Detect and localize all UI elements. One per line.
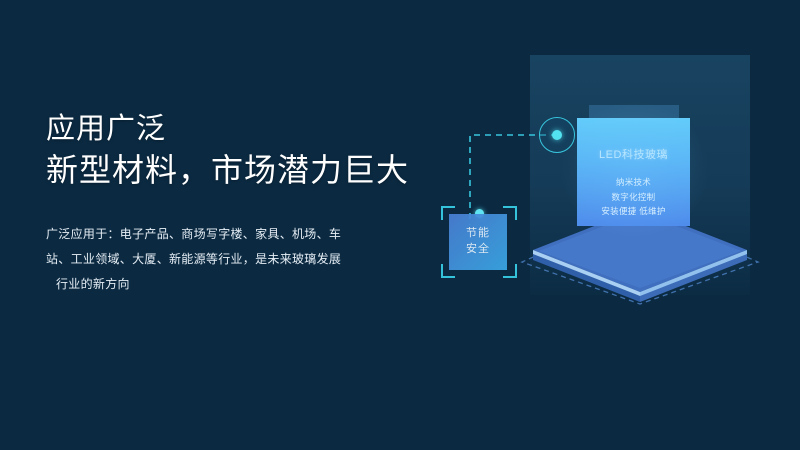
headline-line-2: 新型材料，市场潜力巨大 xyxy=(46,151,409,190)
glass-panel-feature: 数字化控制 xyxy=(611,190,655,205)
slide-canvas: 应用广泛 新型材料，市场潜力巨大 广泛应用于：电子产品、商场写字楼、家具、机场、… xyxy=(0,0,800,450)
badge-label-line-2: 安全 xyxy=(466,242,490,258)
circle-node-icon xyxy=(539,117,575,153)
badge-box: 节能 安全 xyxy=(449,214,507,270)
body-copy-line-3: 行业的新方向 xyxy=(46,272,130,297)
glass-panel-feature: 安装便捷 低维护 xyxy=(601,204,665,219)
glass-panel-title: LED科技玻璃 xyxy=(599,146,668,162)
glass-panel-feature-list: 纳米技术 数字化控制 安装便捷 低维护 xyxy=(601,175,665,219)
badge-label-line-1: 节能 xyxy=(466,226,490,242)
body-copy-line-1: 广泛应用于：电子产品、商场写字楼、家具、机场、车 xyxy=(46,222,341,247)
glass-panel: LED科技玻璃 纳米技术 数字化控制 安装便捷 低维护 xyxy=(577,118,690,226)
headline-line-1: 应用广泛 xyxy=(46,112,409,147)
glass-panel-feature: 纳米技术 xyxy=(616,175,651,190)
body-copy: 广泛应用于：电子产品、商场写字楼、家具、机场、车 站、工业领域、大厦、新能源等行… xyxy=(46,222,376,298)
body-copy-line-2: 站、工业领域、大厦、新能源等行业，是未来玻璃发展 xyxy=(46,247,341,272)
page-title: 应用广泛 新型材料，市场潜力巨大 xyxy=(46,112,409,190)
status-badge[interactable]: 节能 安全 xyxy=(439,204,519,280)
